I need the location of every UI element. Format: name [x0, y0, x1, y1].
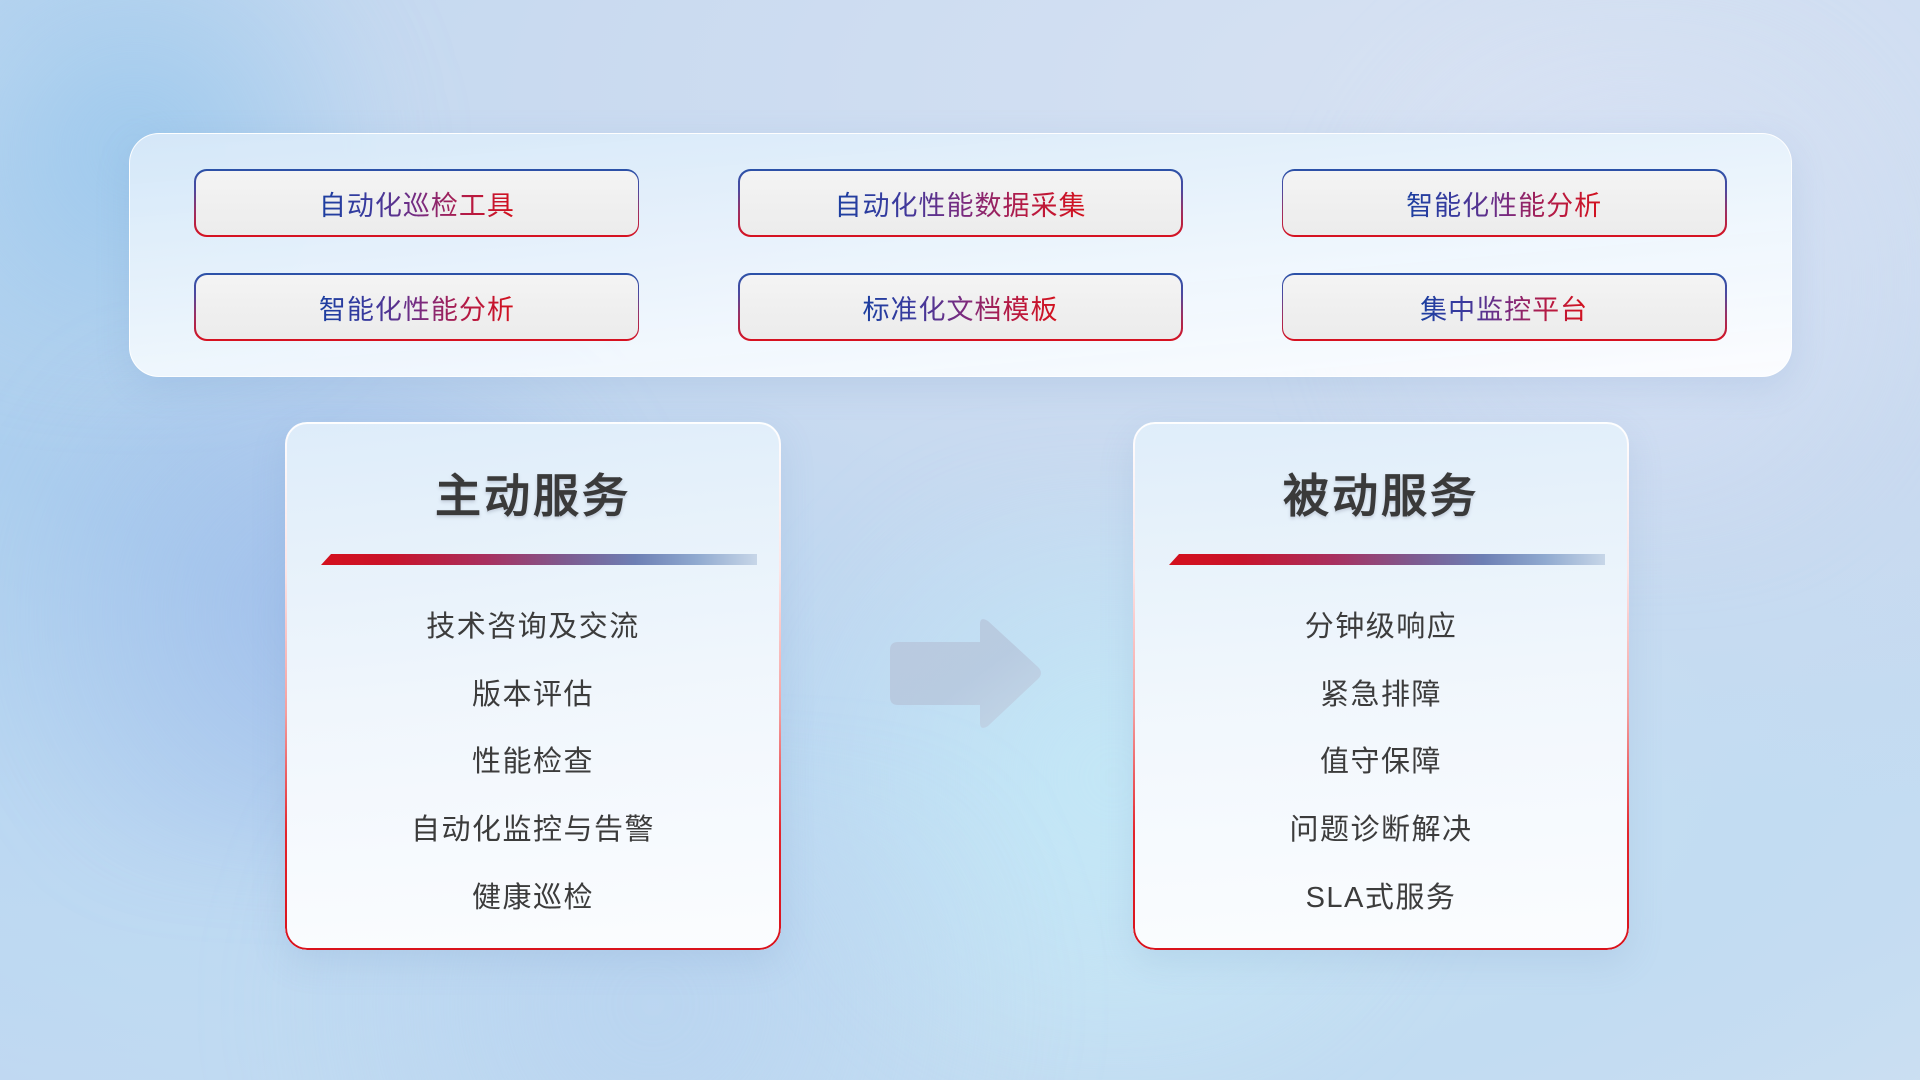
pill-label: 自动化巡检工具: [319, 184, 515, 223]
pill-cell-5: 标准化文档模板: [740, 267, 1182, 347]
diagram-stage: 自动化巡检工具 自动化性能数据采集 智能化性能分析 智能化性能分析: [0, 0, 1920, 1080]
list-item: 版本评估: [311, 662, 755, 730]
pill-label: 自动化性能数据采集: [834, 184, 1086, 223]
card-divider-wrapper: [321, 554, 757, 566]
gradient-divider: [1169, 554, 1605, 565]
service-card-proactive[interactable]: 主动服务 技术咨询及交流 版本评估 性能检查 自动化监控与告警 健康巡检: [285, 422, 781, 950]
card-title-reactive: 被动服务: [1133, 460, 1629, 526]
service-list-reactive: 分钟级响应 紧急排障 值守保障 问题诊断解决 SLA式服务: [1133, 594, 1629, 932]
capability-pill-intelligent-performance-analysis-a[interactable]: 智能化性能分析: [1283, 171, 1725, 235]
list-item: 自动化监控与告警: [311, 797, 755, 865]
list-item: 紧急排障: [1159, 662, 1603, 730]
list-item: 值守保障: [1159, 729, 1603, 797]
list-item: 健康巡检: [311, 865, 755, 933]
capability-pill-automated-performance-data-collection[interactable]: 自动化性能数据采集: [740, 171, 1182, 235]
pill-cell-2: 自动化性能数据采集: [740, 163, 1182, 243]
capability-pill-centralized-monitoring-platform[interactable]: 集中监控平台: [1283, 275, 1725, 339]
pill-label: 智能化性能分析: [319, 288, 515, 327]
capability-panel: 自动化巡检工具 自动化性能数据采集 智能化性能分析 智能化性能分析: [129, 133, 1792, 377]
capability-pill-automated-inspection-tool[interactable]: 自动化巡检工具: [196, 171, 638, 235]
card-divider-wrapper: [1169, 554, 1605, 566]
list-item: 技术咨询及交流: [311, 594, 755, 662]
service-list-proactive: 技术咨询及交流 版本评估 性能检查 自动化监控与告警 健康巡检: [285, 594, 781, 932]
pill-label: 智能化性能分析: [1406, 184, 1602, 223]
service-card-reactive[interactable]: 被动服务 分钟级响应 紧急排障 值守保障 问题诊断解决 SLA式服务: [1133, 422, 1629, 950]
arrow-right-icon: [884, 616, 1044, 731]
pill-cell-3: 智能化性能分析: [1283, 163, 1725, 243]
list-item: 性能检查: [311, 729, 755, 797]
list-item: 分钟级响应: [1159, 594, 1603, 662]
pill-cell-6: 集中监控平台: [1283, 267, 1725, 347]
pill-label: 集中监控平台: [1420, 288, 1588, 327]
capability-pill-standardized-doc-template[interactable]: 标准化文档模板: [740, 275, 1182, 339]
pill-cell-4: 智能化性能分析: [196, 267, 638, 347]
capability-pill-grid: 自动化巡检工具 自动化性能数据采集 智能化性能分析 智能化性能分析: [130, 134, 1791, 376]
pill-label: 标准化文档模板: [862, 288, 1058, 327]
gradient-divider: [321, 554, 757, 565]
card-title-proactive: 主动服务: [285, 460, 781, 526]
capability-pill-intelligent-performance-analysis-b[interactable]: 智能化性能分析: [196, 275, 638, 339]
pill-cell-1: 自动化巡检工具: [196, 163, 638, 243]
list-item: 问题诊断解决: [1159, 797, 1603, 865]
list-item: SLA式服务: [1159, 865, 1603, 933]
